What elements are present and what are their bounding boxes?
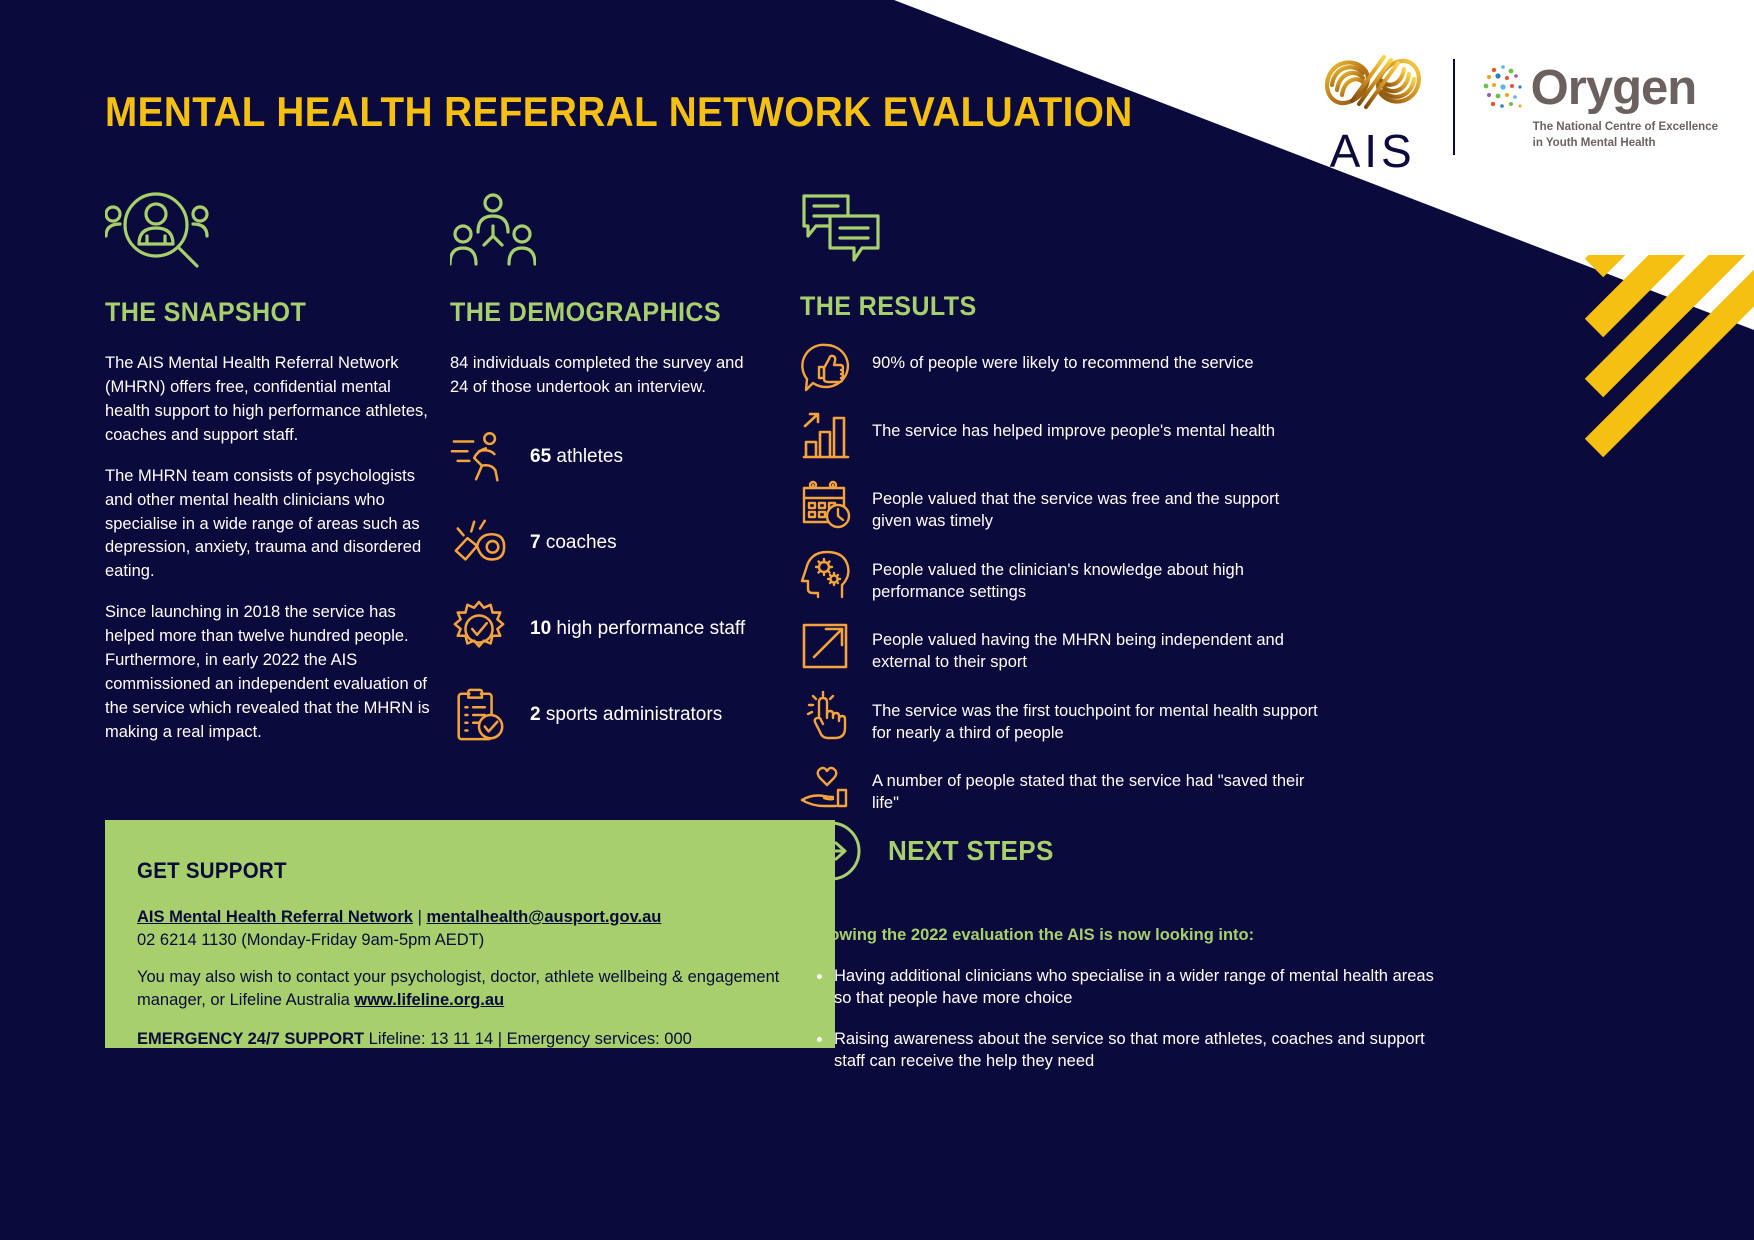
- section-snapshot: THE SNAPSHOT The AIS Mental Health Refer…: [105, 192, 435, 762]
- next-steps-header: NEXT STEPS: [800, 820, 1440, 882]
- stat-value: 7: [530, 532, 541, 553]
- result-item: The service has helped improve people's …: [800, 414, 1320, 462]
- stat-text: 10 high performance staff: [530, 617, 745, 641]
- results-heading: THE RESULTS: [800, 291, 1284, 322]
- next-steps-lead: Following the 2022 evaluation the AIS is…: [800, 926, 1440, 945]
- award-badge-check-icon: [450, 600, 508, 658]
- section-demographics: THE DEMOGRAPHICS 84 individuals complete…: [450, 192, 750, 744]
- demographics-intro: 84 individuals completed the survey and …: [450, 352, 750, 400]
- result-text: People valued having the MHRN being inde…: [872, 623, 1320, 674]
- people-magnifier-icon: [105, 192, 211, 270]
- result-item: A number of people stated that the servi…: [800, 764, 1320, 815]
- arrow-circle-right-icon: [800, 820, 862, 882]
- stat-text: 2 sports administrators: [530, 703, 722, 727]
- bar-chart-up-icon: [800, 410, 852, 462]
- result-text: The service has helped improve people's …: [872, 414, 1275, 442]
- snapshot-paragraph: The AIS Mental Health Referral Network (…: [105, 352, 435, 448]
- separator: |: [413, 908, 426, 926]
- orygen-logo: Orygen The National Centre of Excellence…: [1481, 62, 1718, 151]
- result-text: The service was the first touchpoint for…: [872, 694, 1320, 745]
- orygen-tagline: The National Centre of Excellence in You…: [1533, 120, 1718, 151]
- support-alt-line: You may also wish to contact your psycho…: [137, 966, 803, 1012]
- orygen-dot-cluster-icon: [1481, 62, 1531, 114]
- get-support-box: GET SUPPORT AIS Mental Health Referral N…: [105, 820, 835, 1048]
- section-results: THE RESULTS 90% of people were likely to…: [800, 192, 1320, 835]
- list-item: Having additional clinicians who special…: [834, 963, 1440, 1010]
- ais-wordmark: AIS: [1330, 128, 1416, 174]
- stat-value: 65: [530, 446, 551, 467]
- section-next-steps: NEXT STEPS Following the 2022 evaluation…: [800, 820, 1440, 1088]
- stat-label: sports administrators: [546, 704, 722, 725]
- hand-heart-icon: [800, 760, 852, 812]
- result-text: People valued that the service was free …: [872, 482, 1320, 533]
- stat-label: coaches: [546, 532, 617, 553]
- stat-value: 2: [530, 704, 541, 725]
- stat-row: 2 sports administrators: [450, 686, 750, 744]
- runner-icon: [450, 428, 508, 486]
- stat-label: athletes: [556, 446, 623, 467]
- stat-row: 65 athletes: [450, 428, 750, 486]
- snapshot-paragraph: The MHRN team consists of psychologists …: [105, 465, 435, 585]
- logo-divider: [1453, 59, 1455, 155]
- ais-logo: AIS: [1319, 40, 1427, 174]
- result-text: People valued the clinician's knowledge …: [872, 553, 1320, 604]
- result-item: People valued having the MHRN being inde…: [800, 623, 1320, 674]
- calendar-clock-icon: [800, 478, 852, 530]
- result-item: People valued that the service was free …: [800, 482, 1320, 533]
- page-title: MENTAL HEALTH REFERRAL NETWORK EVALUATIO…: [105, 88, 1133, 136]
- list-item: Raising awareness about the service so t…: [834, 1026, 1440, 1073]
- support-phone: 02 6214 1130 (Monday-Friday 9am-5pm AEDT…: [137, 931, 484, 949]
- snapshot-heading: THE SNAPSHOT: [105, 297, 412, 328]
- thumbs-up-bubble-icon: [800, 342, 852, 394]
- result-item: 90% of people were likely to recommend t…: [800, 346, 1320, 394]
- stat-value: 10: [530, 618, 551, 639]
- stat-text: 65 athletes: [530, 445, 623, 469]
- ais-wattle-icon: [1319, 40, 1427, 126]
- orygen-wordmark: Orygen: [1531, 64, 1697, 113]
- stat-row: 10 high performance staff: [450, 600, 750, 658]
- result-text: A number of people stated that the servi…: [872, 764, 1320, 815]
- emergency-details: Lifeline: 13 11 14 | Emergency services:…: [364, 1030, 692, 1048]
- next-steps-list: Having additional clinicians who special…: [800, 963, 1440, 1072]
- result-item: The service was the first touchpoint for…: [800, 694, 1320, 745]
- whistle-icon: [450, 514, 508, 572]
- head-gears-icon: [800, 549, 852, 601]
- demographics-heading: THE DEMOGRAPHICS: [450, 297, 729, 328]
- external-link-icon: [800, 619, 852, 671]
- clipboard-check-icon: [450, 686, 508, 744]
- lifeline-link[interactable]: www.lifeline.org.au: [354, 991, 504, 1009]
- three-people-icon: [450, 192, 536, 270]
- stat-row: 7 coaches: [450, 514, 750, 572]
- speech-bubbles-icon: [800, 192, 884, 264]
- support-contact-line: AIS Mental Health Referral Network | men…: [137, 906, 803, 952]
- snapshot-paragraph: Since launching in 2018 the service has …: [105, 601, 435, 745]
- support-heading: GET SUPPORT: [137, 858, 756, 884]
- stat-label: high performance staff: [556, 618, 745, 639]
- mhrn-link[interactable]: AIS Mental Health Referral Network: [137, 908, 413, 926]
- support-emergency-line: EMERGENCY 24/7 SUPPORT Lifeline: 13 11 1…: [137, 1028, 803, 1051]
- emergency-label: EMERGENCY 24/7 SUPPORT: [137, 1030, 364, 1048]
- infographic-poster: AIS Orygen The Natio: [0, 0, 1754, 1240]
- email-link[interactable]: mentalhealth@ausport.gov.au: [426, 908, 661, 926]
- result-item: People valued the clinician's knowledge …: [800, 553, 1320, 604]
- logo-group: AIS Orygen The Natio: [1319, 40, 1718, 174]
- next-steps-heading: NEXT STEPS: [888, 835, 1054, 867]
- result-text: 90% of people were likely to recommend t…: [872, 346, 1254, 374]
- touch-pointer-icon: [800, 690, 852, 742]
- stat-text: 7 coaches: [530, 531, 617, 555]
